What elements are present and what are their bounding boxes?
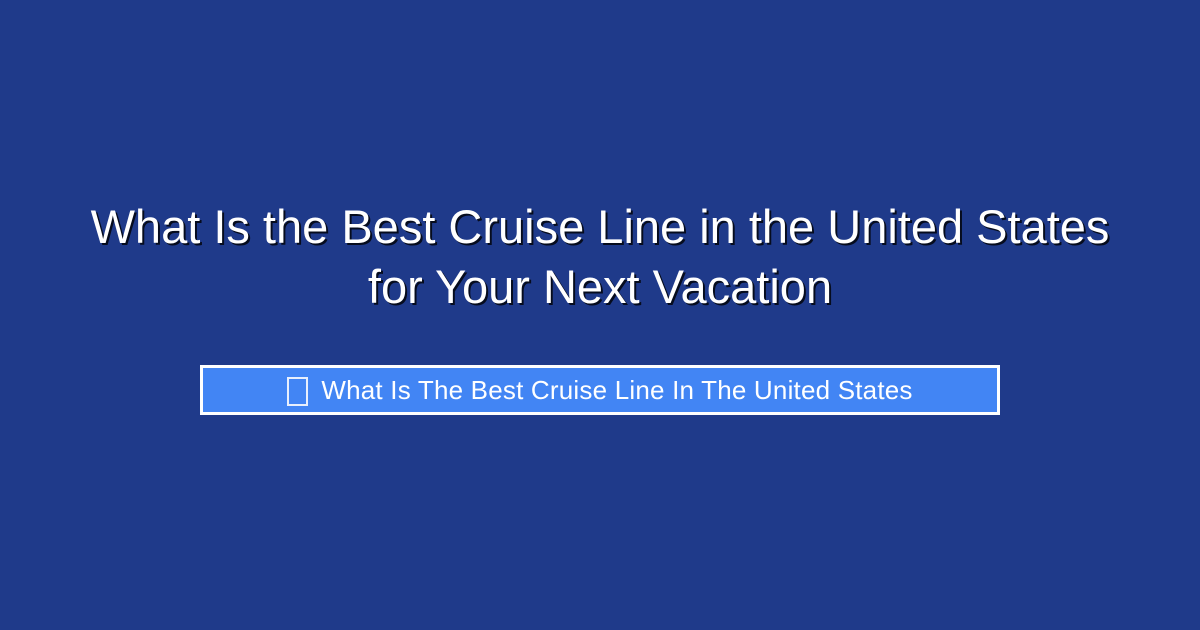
cta-button-label: What Is The Best Cruise Line In The Unit…: [321, 377, 912, 403]
social-share-card: What Is the Best Cruise Line in the Unit…: [0, 0, 1200, 630]
cta-button[interactable]: What Is The Best Cruise Line In The Unit…: [200, 365, 1000, 415]
missing-glyph-box-icon: [287, 377, 308, 406]
card-content: What Is the Best Cruise Line in the Unit…: [50, 197, 1150, 415]
page-title: What Is the Best Cruise Line in the Unit…: [70, 197, 1130, 317]
cta-row: What Is The Best Cruise Line In The Unit…: [50, 365, 1150, 415]
